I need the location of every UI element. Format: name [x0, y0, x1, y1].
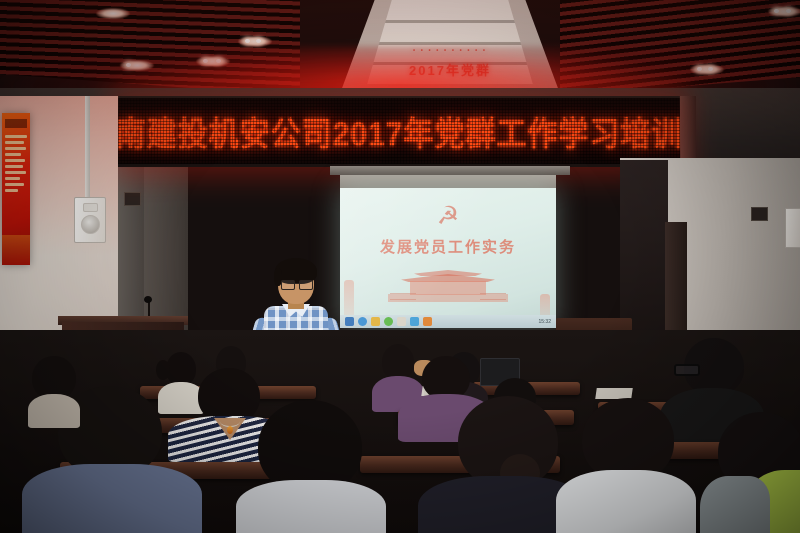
screen-valance: [340, 175, 556, 189]
downlight-lamp-icon: [774, 9, 779, 13]
downlight-lamp-icon: [245, 39, 250, 43]
list-item: [28, 356, 80, 420]
slide-title: 发展党员工作实务: [340, 236, 556, 257]
red-propaganda-poster: [2, 113, 30, 265]
projection-screen: ☭ 发展党员工作实务 15:32: [340, 188, 556, 328]
necklace-pendant: [227, 426, 233, 434]
attendee-body: [556, 470, 696, 533]
led-frame-right: [680, 96, 696, 162]
attendee-lime-jacket: [700, 412, 800, 533]
eyeglasses-bridge-icon: [294, 283, 299, 284]
led-banner-text: 云南建投机安公司2017年党群工作学习培训会: [118, 106, 680, 155]
wall-speaker-left: [74, 197, 106, 243]
eyeglasses-icon: [299, 280, 313, 290]
downlight-icon: [768, 6, 800, 17]
poster-text-lines: [5, 135, 27, 192]
player-icon: [384, 317, 393, 326]
attendee-center-dark: [236, 400, 386, 533]
poster-footer-graphic: [2, 235, 30, 265]
poster-heading: [5, 119, 27, 128]
eyeglasses-icon: [281, 280, 295, 290]
attendee-body: [22, 464, 202, 533]
wall-speaker-right: [785, 208, 800, 248]
eyeglasses-icon: [674, 364, 700, 376]
downlight-lamp-icon: [786, 9, 791, 13]
start-icon: [345, 317, 354, 326]
document-icon: [397, 317, 406, 326]
attendee-body: [28, 394, 80, 428]
projected-taskbar: 15:32: [340, 315, 556, 328]
tiananmen-gate-illustration: [388, 268, 508, 302]
downlight-lamp-icon: [256, 39, 261, 43]
attendee-body: [236, 480, 386, 533]
attendee-white-shirt: [556, 398, 696, 533]
speaker-tweeter-icon: [83, 203, 98, 212]
taskbar-clock: 15:32: [538, 319, 551, 325]
folder-icon: [371, 317, 380, 326]
wall-plaque: [751, 207, 768, 221]
gooseneck-microphone-icon: [144, 296, 152, 303]
attendee-grey-jacket: [700, 476, 770, 533]
browser-icon: [358, 317, 367, 326]
speaker-mount-rod: [85, 96, 90, 198]
hammer-and-sickle-icon: ☭: [437, 204, 459, 229]
speaker-cone-icon: [81, 215, 100, 234]
chat-icon: [410, 317, 419, 326]
slide-left-figure: [344, 280, 354, 316]
slide-right-figure: [540, 294, 550, 316]
wall-plaque: [124, 192, 141, 206]
led-banner: 云南建投机安公司2017年党群工作学习培训会: [118, 96, 680, 167]
screen-roller-housing: [330, 166, 570, 175]
downlight-icon: [96, 8, 130, 19]
conference-hall-photo: • • • • • • • • • • 2017年党群 云南建投机安公司2017…: [0, 0, 800, 533]
mail-icon: [423, 317, 432, 326]
